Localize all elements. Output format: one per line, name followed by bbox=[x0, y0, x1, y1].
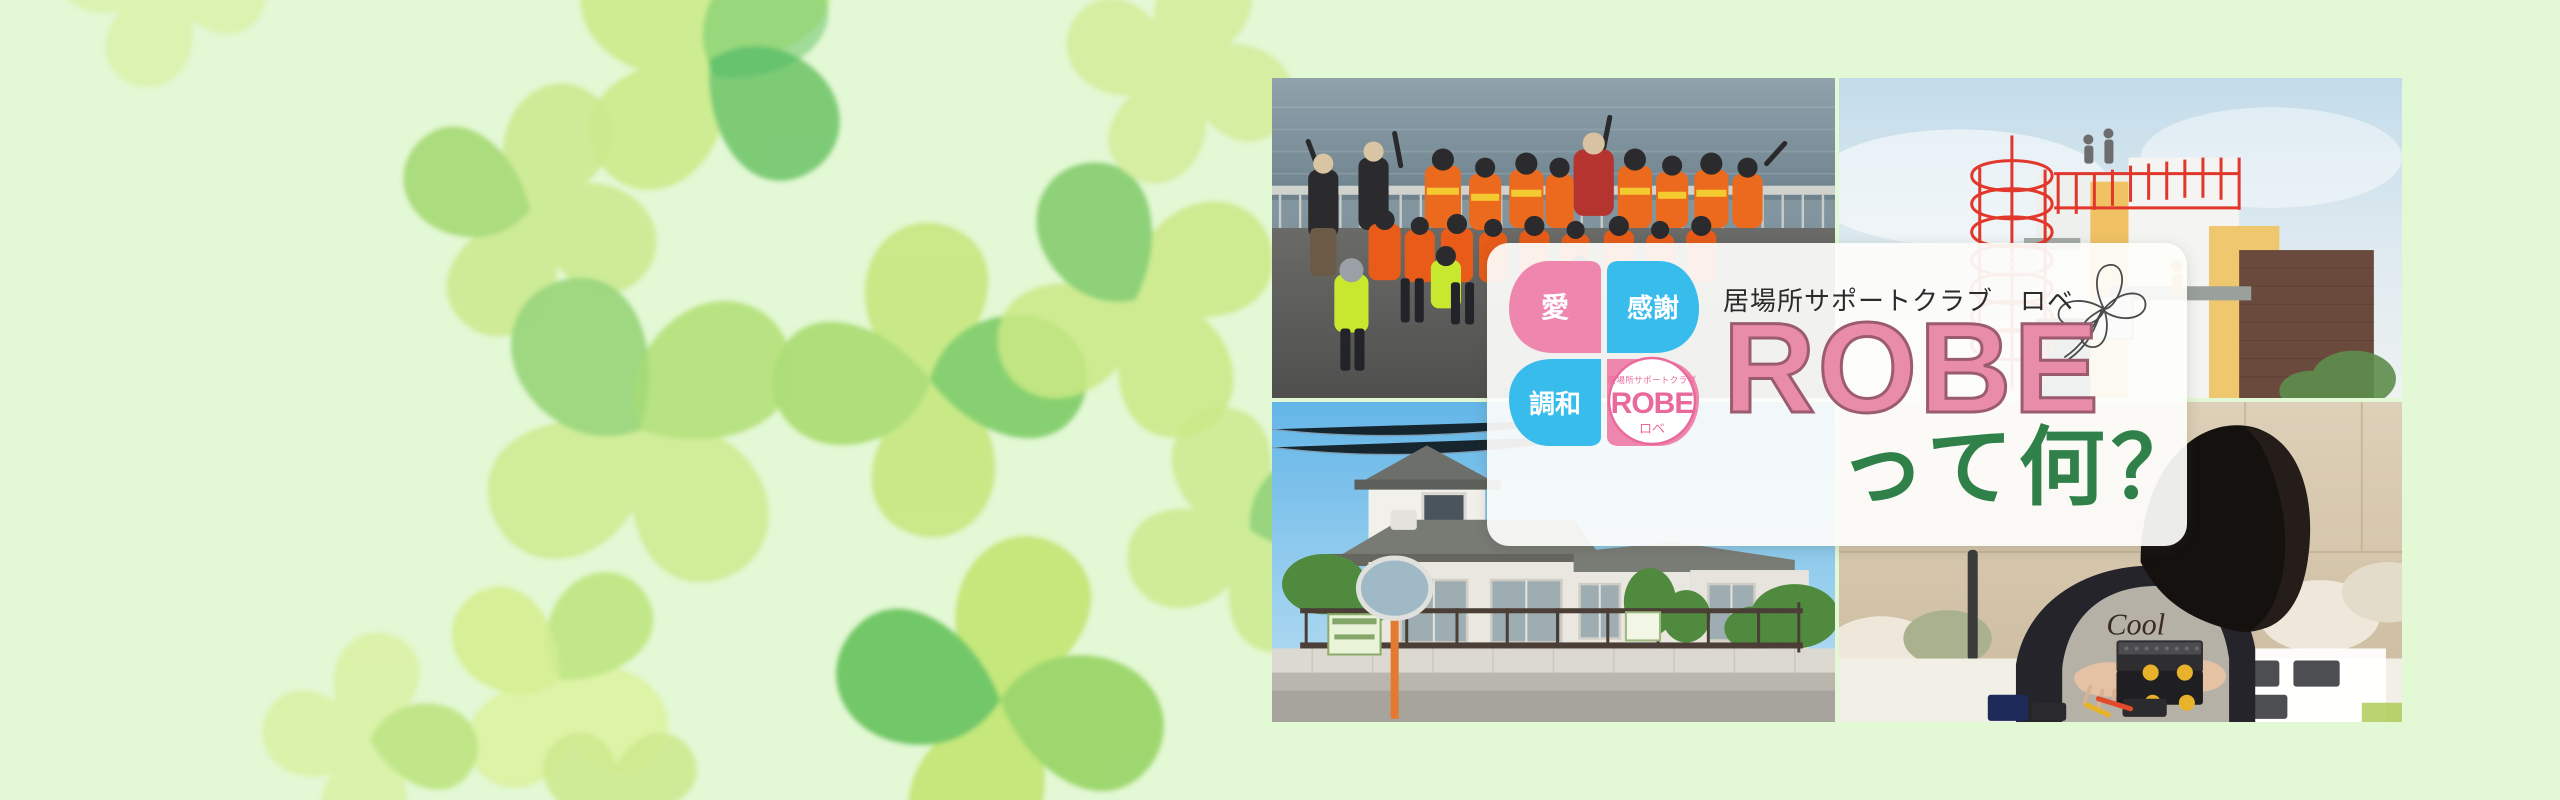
clover-icon bbox=[419, 539, 701, 800]
svg-text:感謝: 感謝 bbox=[1627, 293, 1679, 324]
clover-icon bbox=[711, 161, 1148, 598]
svg-text:調和: 調和 bbox=[1529, 389, 1581, 420]
svg-text:愛: 愛 bbox=[1541, 291, 1569, 324]
photo-caption-3: Traditional Japanese house with fence, t… bbox=[0, 0, 1, 1]
robe-question-text: って何？ bbox=[1839, 425, 2187, 511]
title-card: 愛 感謝 調和 居場所サポートクラブ ROBE ロベ bbox=[1487, 243, 2187, 546]
robe-wordmark: ROBE bbox=[1723, 305, 2101, 433]
svg-text:Cool: Cool bbox=[2106, 607, 2165, 641]
clover-icon bbox=[21, 0, 298, 119]
clover-icon bbox=[526, 0, 894, 244]
clover-icon bbox=[502, 692, 737, 800]
page-root: Cool bbox=[0, 0, 2560, 800]
photo-caption-2: Modern building exterior with red spiral… bbox=[0, 0, 1, 1]
clover-icon bbox=[227, 597, 513, 800]
svg-text:居場所サポートクラブ: 居場所サポートクラブ bbox=[1607, 375, 1696, 386]
clover-icon bbox=[407, 197, 872, 662]
svg-text:ROBE: ROBE bbox=[1611, 387, 1694, 420]
clover-icon bbox=[794, 494, 1206, 800]
svg-text:ロベ: ロベ bbox=[1639, 422, 1665, 437]
photo-caption-1: Group of people in orange safety vests p… bbox=[0, 0, 1, 1]
robe-four-petal-logo: 愛 感謝 調和 居場所サポートクラブ ROBE ロベ bbox=[1509, 261, 1699, 446]
photo-caption-4: Child in a Cool sweater assembling a rob… bbox=[0, 0, 1, 1]
clover-icon bbox=[382, 62, 679, 359]
